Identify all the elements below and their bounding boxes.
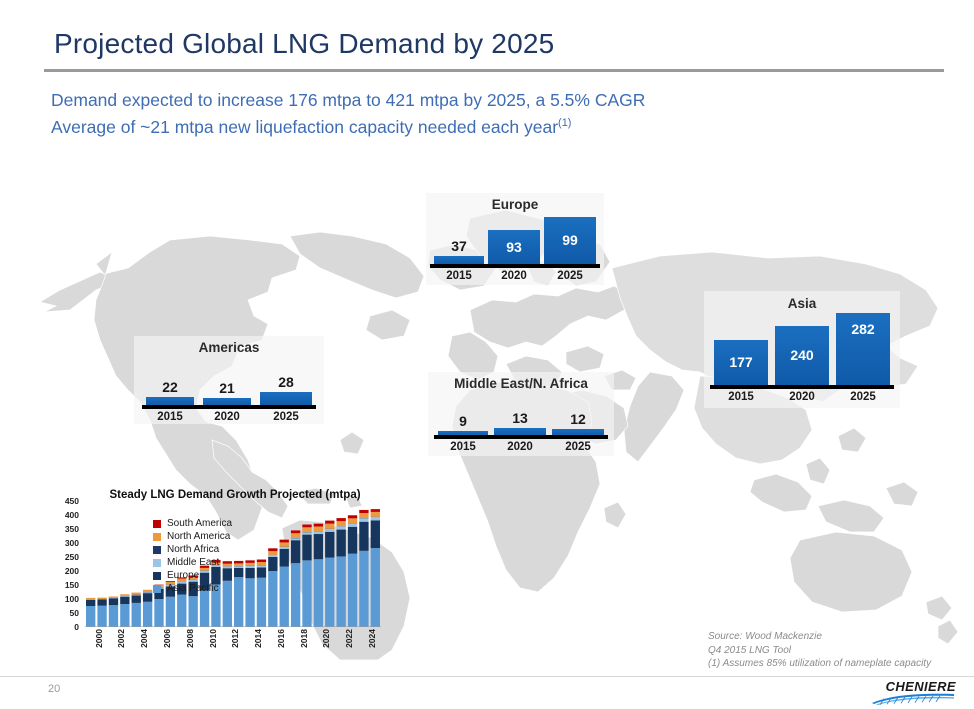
chart-y-tick-label: 150 [39, 581, 79, 590]
chart-bar-segment [359, 513, 368, 518]
bar-shape[interactable]: 282 [836, 313, 890, 386]
chart-y-tick-label: 50 [39, 609, 79, 618]
bar-column[interactable]: 93 [488, 230, 540, 265]
chart-bar-segment [120, 597, 129, 604]
region-bars-americas: 22 21 28 [134, 358, 324, 406]
chart-bar-segment [200, 591, 209, 627]
region-title-americas: Americas [134, 340, 324, 355]
chart-bar-segment [268, 571, 277, 627]
legend-label: North America [167, 531, 230, 542]
chart-bar-segment [245, 560, 254, 563]
chart-bar-segment [120, 596, 129, 597]
chart-bar-segment [109, 598, 118, 605]
chart-bar-segment [97, 600, 106, 606]
chart-bar-segment [154, 599, 163, 627]
chart-bar-segment [348, 527, 357, 554]
chart-y-tick-label: 200 [39, 567, 79, 576]
demand-growth-chart: Steady LNG Demand Growth Projected (mtpa… [33, 489, 385, 674]
chart-bar-segment [280, 547, 289, 549]
chart-bar-segment [280, 542, 289, 546]
chart-bar-segment [234, 577, 243, 627]
chart-bar-segment [280, 567, 289, 627]
bar-column[interactable]: 240 [775, 326, 829, 386]
chart-bar-segment [177, 595, 186, 627]
legend-swatch-icon [153, 546, 161, 554]
chart-x-tick-label: 2000 [94, 629, 104, 648]
bar-column[interactable]: 282 [836, 313, 890, 386]
bar-value: 282 [851, 322, 874, 336]
chart-y-tick-label: 450 [39, 497, 79, 506]
axis-baseline [710, 385, 894, 389]
region-axis-labels-mena: 2015 2020 2025 [428, 441, 614, 453]
chart-y-tick-label: 100 [39, 595, 79, 604]
chart-x-tick-label: 2004 [139, 629, 149, 648]
chart-bar-segment [291, 540, 300, 563]
region-axis-labels-asia: 2015 2020 2025 [704, 391, 900, 403]
logo-wordmark: CHENIERE [886, 679, 956, 694]
chart-bar-segment [257, 567, 266, 577]
slide-canvas: Projected Global LNG Demand by 2025 Dema… [0, 0, 974, 709]
chart-bar-segment [359, 522, 368, 551]
chart-legend-item[interactable]: Middle East [153, 556, 232, 569]
chart-legend-item[interactable]: North America [153, 530, 232, 543]
source-line-2: Q4 2015 LNG Tool [708, 644, 931, 658]
axis-label: 2020 [203, 411, 251, 423]
region-title-asia: Asia [704, 296, 900, 311]
chart-y-tick-label: 0 [39, 623, 79, 632]
chart-x-tick-label: 2006 [162, 629, 172, 648]
legend-swatch-icon [153, 520, 161, 528]
bar-value: 13 [494, 410, 546, 426]
chart-bar-segment [132, 593, 141, 595]
chart-x-tick-label: 2012 [230, 629, 240, 648]
chart-x-tick-label: 2016 [276, 629, 286, 648]
chart-bar-segment [348, 524, 357, 527]
axis-label: 2025 [552, 441, 604, 453]
chart-x-tick-label: 2024 [367, 629, 377, 648]
chart-bar-segment [314, 526, 323, 531]
chart-bar-segment [314, 559, 323, 627]
chart-svg [85, 501, 381, 627]
legend-label: South America [167, 518, 232, 529]
chart-bar-segment [302, 532, 311, 534]
bar-shape[interactable]: 93 [488, 230, 540, 265]
chart-bar-segment [291, 563, 300, 627]
chart-y-tick-label: 300 [39, 539, 79, 548]
chart-x-tick-label: 2008 [185, 629, 195, 648]
axis-label: 2020 [775, 391, 829, 403]
chart-bar-segment [336, 530, 345, 557]
axis-label: 2020 [488, 270, 540, 282]
bar-column[interactable]: 99 [544, 217, 596, 265]
bar-shape[interactable]: 99 [544, 217, 596, 265]
axis-label: 2025 [260, 411, 312, 423]
bar-shape[interactable] [260, 392, 312, 406]
chart-legend-item[interactable]: Asia Pacific [153, 582, 232, 595]
chart-bar-segment [257, 562, 266, 565]
legend-label: Europe [167, 570, 199, 581]
chart-x-tick-label: 2018 [299, 629, 309, 648]
chart-bar-segment [109, 596, 118, 597]
bar-value: 28 [260, 374, 312, 390]
logo-wave-icon [870, 693, 956, 705]
bar-value: 240 [790, 348, 813, 362]
region-axis-labels-europe: 2015 2020 2025 [426, 270, 604, 282]
chart-bar-segment [86, 600, 95, 606]
chart-bar-segment [86, 598, 95, 599]
chart-plot-area [85, 501, 381, 627]
chart-bar-segment [325, 521, 334, 524]
region-bars-asia: 177 240 282 [704, 313, 900, 386]
chart-bar-segment [132, 595, 141, 596]
chart-bar-segment [302, 525, 311, 528]
chart-y-axis: 050100150200250300350400450 [33, 501, 79, 627]
chart-bar-segment [348, 518, 357, 523]
legend-swatch-icon [153, 572, 161, 580]
chart-bar-segment [97, 598, 106, 599]
axis-label: 2025 [836, 391, 890, 403]
bar-value: 22 [146, 379, 194, 395]
page-title: Projected Global LNG Demand by 2025 [54, 28, 554, 60]
chart-bar-segment [257, 565, 266, 567]
subtitle-block: Demand expected to increase 176 mtpa to … [51, 89, 645, 139]
chart-legend-item[interactable]: North Africa [153, 543, 232, 556]
chart-bar-segment [325, 532, 334, 558]
legend-swatch-icon [153, 585, 161, 593]
region-axis-labels-americas: 2015 2020 2025 [134, 411, 324, 423]
chart-bar-segment [143, 592, 152, 593]
bar-value: 177 [729, 355, 752, 369]
axis-label: 2015 [438, 441, 488, 453]
chart-bar-segment [268, 555, 277, 557]
title-divider [44, 69, 944, 72]
chart-y-tick-label: 350 [39, 525, 79, 534]
chart-x-axis: 2000200220042006200820102012201420162018… [85, 629, 381, 669]
chart-bar-segment [302, 535, 311, 561]
chart-bar-segment [336, 521, 345, 526]
chart-bar-segment [234, 566, 243, 568]
chart-x-tick-label: 2014 [253, 629, 263, 648]
region-title-mena: Middle East/N. Africa [428, 376, 614, 391]
chart-bar-segment [257, 560, 266, 563]
chart-bar-segment [268, 551, 277, 555]
source-line-1: Source: Wood Mackenzie [708, 630, 931, 644]
chart-bar-segment [143, 602, 152, 627]
subtitle-line-2: Average of ~21 mtpa new liquefaction cap… [51, 112, 645, 139]
chart-bar-segment [268, 557, 277, 571]
bar-value: 37 [434, 238, 484, 254]
chart-bar-segment [97, 606, 106, 627]
source-note: Source: Wood Mackenzie Q4 2015 LNG Tool … [708, 630, 931, 671]
chart-bar-segment [325, 558, 334, 627]
axis-label: 2020 [494, 441, 546, 453]
chart-bar-segment [371, 520, 380, 548]
chart-bar-segment [188, 596, 197, 627]
chart-bar-segment [314, 532, 323, 535]
chart-bar-segment [268, 548, 277, 551]
chart-legend: South AmericaNorth AmericaNorth AfricaMi… [153, 517, 232, 595]
chart-x-tick-label: 2002 [116, 629, 126, 648]
chart-bar-segment [348, 554, 357, 627]
legend-label: Middle East [167, 557, 219, 568]
chart-bar-segment [302, 560, 311, 627]
chart-legend-item[interactable]: Europe [153, 569, 232, 582]
chart-y-tick-label: 250 [39, 553, 79, 562]
bar-value: 12 [552, 411, 604, 427]
chart-bar-segment [120, 604, 129, 627]
axis-baseline [430, 264, 600, 268]
cheniere-logo: CHENIERE [862, 679, 956, 705]
bar-column[interactable]: 28 [260, 392, 312, 406]
bar-column[interactable]: 177 [714, 340, 768, 386]
chart-x-tick-label: 2020 [321, 629, 331, 648]
chart-bar-segment [245, 563, 254, 566]
chart-bar-segment [348, 515, 357, 518]
bar-shape[interactable]: 177 [714, 340, 768, 386]
chart-bar-segment [245, 568, 254, 578]
chart-bar-segment [234, 561, 243, 564]
region-bars-europe: 37 93 99 [426, 213, 604, 265]
legend-swatch-icon [153, 559, 161, 567]
source-line-3: (1) Assumes 85% utilization of nameplate… [708, 657, 931, 671]
chart-bar-segment [86, 606, 95, 627]
chart-bar-segment [109, 605, 118, 627]
chart-bar-segment [280, 549, 289, 567]
chart-bar-segment [302, 527, 311, 532]
chart-bar-segment [336, 526, 345, 529]
chart-bar-segment [371, 512, 380, 517]
chart-bar-segment [280, 540, 289, 543]
chart-bar-segment [371, 548, 380, 627]
chart-bar-segment [245, 578, 254, 627]
region-panel-asia: Asia 177 240 282 2015 2020 2025 [704, 291, 900, 408]
chart-x-tick-label: 2022 [344, 629, 354, 648]
subtitle-line-1: Demand expected to increase 176 mtpa to … [51, 89, 645, 112]
chart-bar-segment [359, 551, 368, 627]
axis-label: 2015 [146, 411, 194, 423]
chart-bar-segment [336, 556, 345, 627]
axis-label: 2015 [714, 391, 768, 403]
chart-bar-segment [325, 529, 334, 532]
axis-baseline [142, 405, 316, 409]
page-number: 20 [48, 683, 60, 695]
legend-label: North Africa [167, 544, 219, 555]
legend-swatch-icon [153, 533, 161, 541]
chart-bar-segment [336, 518, 345, 521]
chart-bar-segment [371, 509, 380, 512]
chart-bar-segment [314, 534, 323, 559]
chart-x-tick-label: 2010 [208, 629, 218, 648]
chart-bar-segment [359, 518, 368, 521]
chart-title: Steady LNG Demand Growth Projected (mtpa… [85, 489, 385, 501]
subtitle-line-2-text: Average of ~21 mtpa new liquefaction cap… [51, 117, 558, 137]
chart-bar-segment [257, 578, 266, 627]
region-panel-middle-east-north-africa: Middle East/N. Africa 9 13 12 2015 2020 … [428, 372, 614, 456]
bar-value: 93 [506, 240, 522, 254]
footnote-marker: (1) [558, 117, 571, 129]
chart-bar-segment [143, 593, 152, 602]
region-panel-europe: Europe 37 93 99 2015 2020 2025 [426, 193, 604, 285]
chart-legend-item[interactable]: South America [153, 517, 232, 530]
chart-bar-segment [132, 603, 141, 627]
axis-label: 2015 [434, 270, 484, 282]
chart-y-tick-label: 400 [39, 511, 79, 520]
chart-bar-segment [359, 510, 368, 513]
axis-label: 2025 [544, 270, 596, 282]
chart-bar-segment [166, 597, 175, 627]
legend-label: Asia Pacific [167, 583, 219, 594]
region-title-europe: Europe [426, 197, 604, 212]
chart-bar-segment [291, 538, 300, 540]
chart-bar-segment [325, 524, 334, 529]
axis-baseline [434, 435, 608, 439]
bar-value: 9 [438, 413, 488, 429]
chart-bar-segment [234, 563, 243, 566]
bar-shape[interactable]: 240 [775, 326, 829, 386]
chart-bar-segment [143, 590, 152, 592]
region-panel-americas: Americas 22 21 28 2015 2020 2025 [134, 336, 324, 424]
region-bars-mena: 9 13 12 [428, 394, 614, 436]
footer-divider [0, 676, 974, 677]
chart-bar-segment [291, 530, 300, 533]
chart-bar-segment [291, 533, 300, 538]
chart-bar-segment [245, 566, 254, 568]
chart-bar-segment [120, 594, 129, 596]
bar-value: 21 [203, 380, 251, 396]
chart-bar-segment [132, 595, 141, 603]
chart-bar-segment [371, 517, 380, 520]
chart-bar-segment [234, 568, 243, 577]
chart-bar-segment [314, 524, 323, 527]
bar-value: 99 [562, 233, 578, 247]
